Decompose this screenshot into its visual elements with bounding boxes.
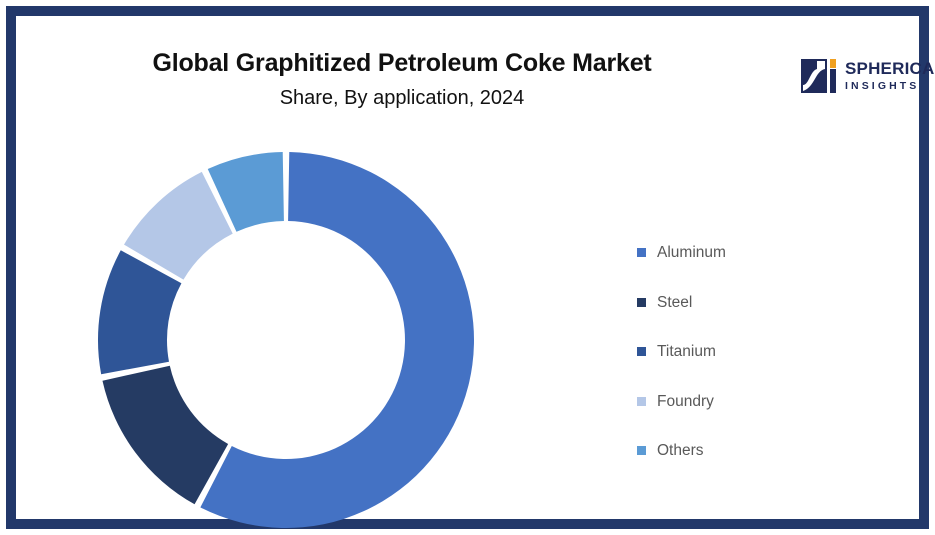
chart-page: Global Graphitized Petroleum Coke Market… [0,0,935,535]
legend-swatch-icon [637,446,646,455]
donut-chart-svg [91,145,481,535]
brand-logo: SPHERICAL INSIGHTS [801,53,925,99]
donut-slice-group [98,152,474,528]
legend-swatch-icon [637,347,646,356]
spherical-insights-logo-icon [801,57,839,95]
legend-item-steel[interactable]: Steel [637,278,867,328]
logo-wordmark: SPHERICAL INSIGHTS [845,60,935,92]
legend-item-label: Foundry [657,394,714,410]
donut-slice-steel[interactable] [102,366,228,505]
logo-tagline: INSIGHTS [845,81,935,92]
page-title: Global Graphitized Petroleum Coke Market [32,48,772,79]
legend-swatch-icon [637,248,646,257]
chart-legend: AluminumSteelTitaniumFoundryOthers [637,228,867,476]
legend-item-label: Others [657,443,704,459]
legend-item-label: Steel [657,295,692,311]
legend-item-label: Aluminum [657,245,726,261]
title-block: Global Graphitized Petroleum Coke Market… [32,48,772,111]
page-content: Global Graphitized Petroleum Coke Market… [32,32,935,535]
page-subtitle: Share, By application, 2024 [32,85,772,111]
page-border-frame: Global Graphitized Petroleum Coke Market… [6,6,929,529]
legend-item-label: Titanium [657,344,716,360]
legend-item-aluminum[interactable]: Aluminum [637,228,867,278]
donut-chart [91,145,481,535]
legend-item-foundry[interactable]: Foundry [637,377,867,427]
legend-item-others[interactable]: Others [637,426,867,476]
legend-swatch-icon [637,298,646,307]
legend-item-titanium[interactable]: Titanium [637,327,867,377]
legend-swatch-icon [637,397,646,406]
logo-name: SPHERICAL [845,60,935,77]
